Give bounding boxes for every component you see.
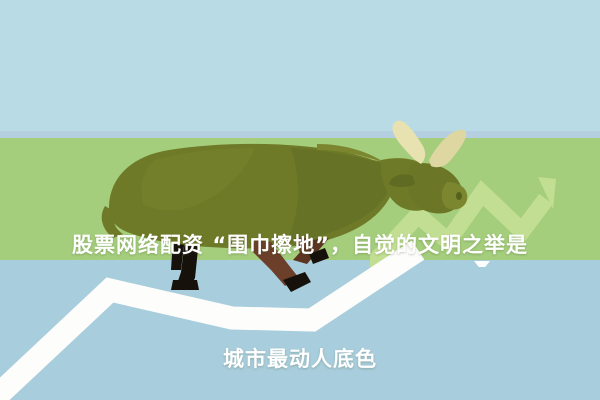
page-title: 股票网络配资 “围巾擦地”，自觉的文明之举是 城市最动人底色 <box>0 150 600 400</box>
headline-line-1: 股票网络配资 “围巾擦地”，自觉的文明之举是 <box>0 226 600 264</box>
sky-upper-band <box>0 0 600 138</box>
banner-image: 股票网络配资 “围巾擦地”，自觉的文明之举是 城市最动人底色 <box>0 0 600 400</box>
headline-line-2: 城市最动人底色 <box>0 340 600 378</box>
